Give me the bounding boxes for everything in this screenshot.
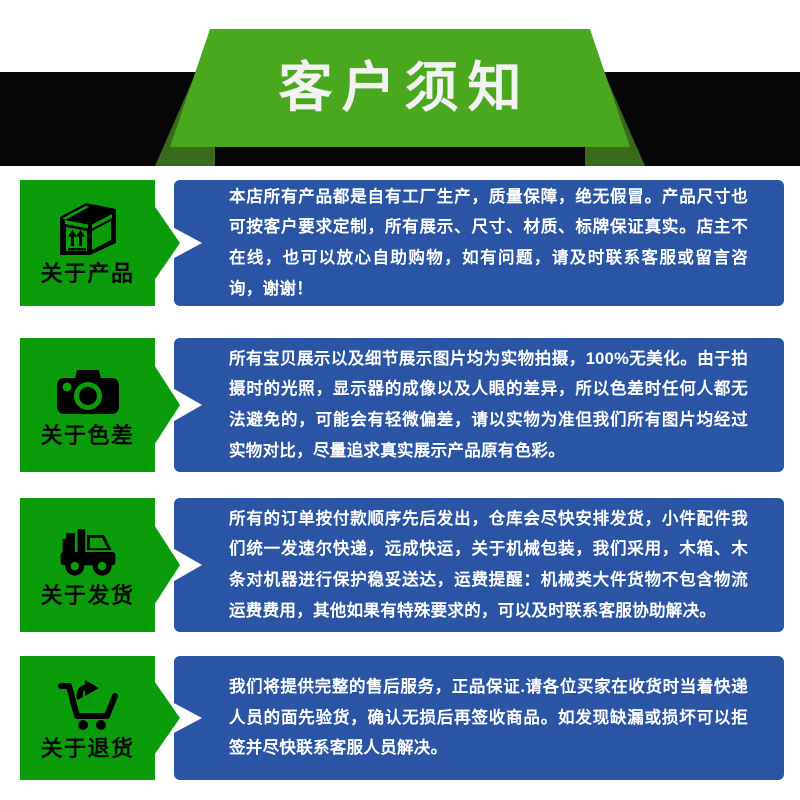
badge-label-color: 关于色差 [40,425,134,447]
forklift-truck-icon [55,523,121,581]
badge-product: 关于产品 [20,180,155,306]
ribbon-banner: 客户须知 [170,29,630,147]
badge-return: 关于退货 [20,656,155,780]
camera-icon [55,363,121,421]
notice-row-product: 关于产品 本店所有产品都是自有工厂生产，质量保障，绝无假冒。产品尺寸也可按客户要… [0,180,800,306]
panel-return: 我们将提供完整的售后服务，正品保证.请各位买家在收货时当着快递人员的面先验货，确… [174,656,784,780]
notice-row-color: 关于色差 所有宝贝展示以及细节展示图片均为实物拍摄，100%无美化。由于拍摄时的… [0,338,800,472]
badge-color: 关于色差 [20,338,155,472]
notice-row-return: 关于退货 我们将提供完整的售后服务，正品保证.请各位买家在收货时当着快递人员的面… [0,656,800,780]
panel-text-product: 本店所有产品都是自有工厂生产，质量保障，绝无假冒。产品尺寸也可按客户要求定制，所… [174,182,784,304]
panel-text-shipping: 所有的订单按付款顺序先后发出，仓库会尽快安排发货，小件配件我们统一发速尔快递，远… [174,504,784,626]
panel-text-return: 我们将提供完整的售后服务，正品保证.请各位买家在收货时当着快递人员的面先验货，确… [174,672,784,764]
badge-shipping: 关于发货 [20,498,155,632]
panel-product: 本店所有产品都是自有工厂生产，质量保障，绝无假冒。产品尺寸也可按客户要求定制，所… [174,180,784,306]
panel-text-color: 所有宝贝展示以及细节展示图片均为实物拍摄，100%无美化。由于拍摄时的光照，显示… [174,344,784,466]
badge-label-return: 关于退货 [40,738,134,760]
notice-row-shipping: 关于发货 所有的订单按付款顺序先后发出，仓库会尽快安排发货，小件配件我们统一发速… [0,498,800,632]
page-title: 客户须知 [270,61,531,115]
cardboard-box-icon [55,201,121,259]
return-cart-icon [55,676,121,734]
badge-label-shipping: 关于发货 [40,585,134,607]
panel-color: 所有宝贝展示以及细节展示图片均为实物拍摄，100%无美化。由于拍摄时的光照，显示… [174,338,784,472]
page-header: 客户须知 [0,0,800,166]
panel-shipping: 所有的订单按付款顺序先后发出，仓库会尽快安排发货，小件配件我们统一发速尔快递，远… [174,498,784,632]
badge-label-product: 关于产品 [40,263,134,285]
